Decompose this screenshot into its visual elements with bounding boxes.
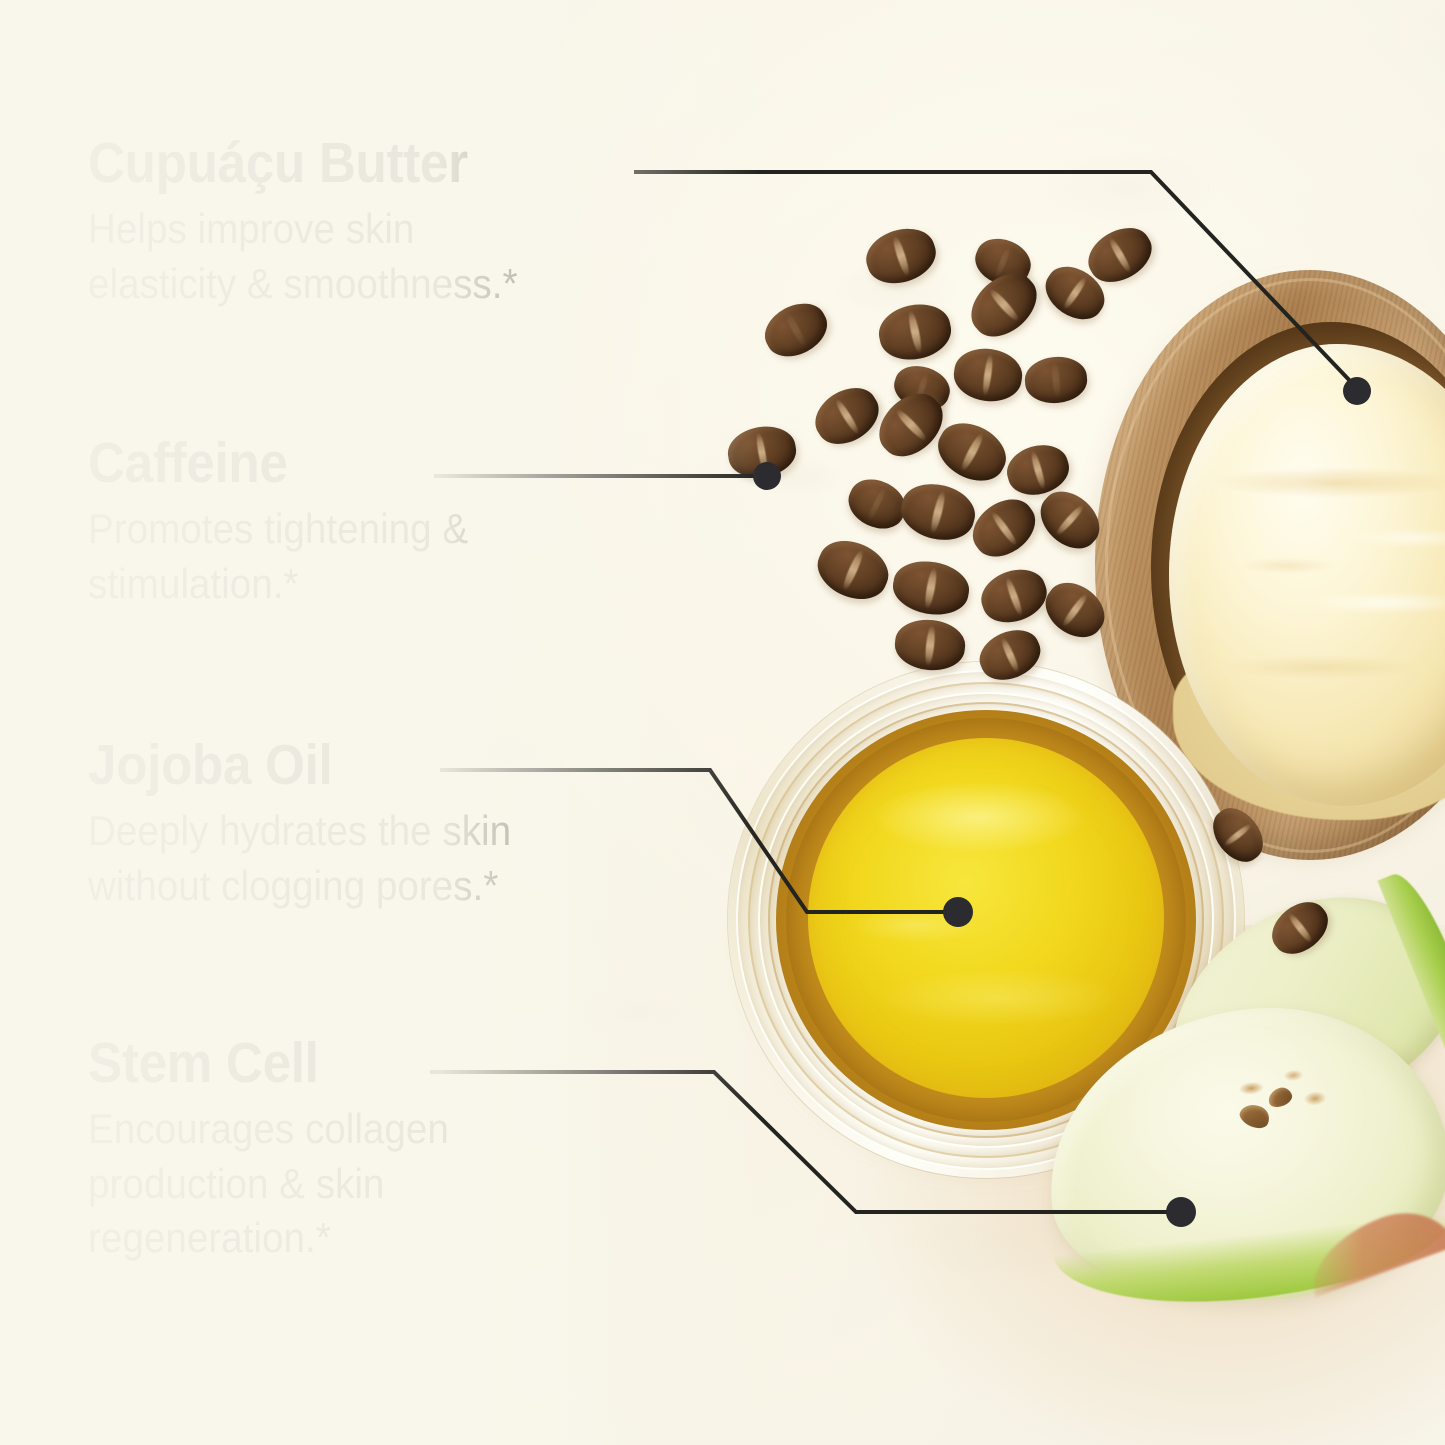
left-text-panel-wash — [0, 0, 760, 1445]
infographic-canvas: Cupuáçu Butter Helps improve skin elasti… — [0, 0, 1445, 1445]
